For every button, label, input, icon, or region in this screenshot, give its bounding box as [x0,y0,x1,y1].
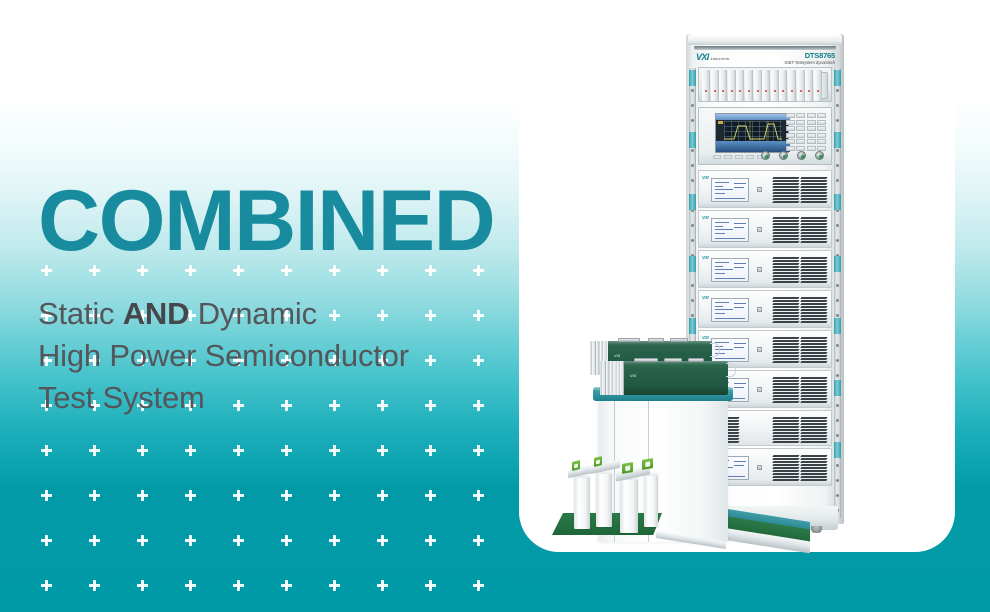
lcd-text-line [715,182,729,183]
rack-rail-hole [836,494,839,497]
front-module-connector-3 [688,358,704,362]
rack-rail-hole [691,119,694,122]
rack-rail-hole [836,164,839,167]
rear-module-handle[interactable] [710,343,720,357]
rack-rail-hole [836,179,839,182]
vent-louver [800,318,827,320]
rack-rail-hole [691,284,694,287]
rack-brand-logo: VXI instruments [696,53,729,62]
vent-louver [800,300,827,302]
analyzer-label-chip [724,155,732,159]
card-cage-slot[interactable] [711,70,719,101]
test-fixture-assembly: VXI VXI [560,335,810,570]
card-slot-led [731,90,733,92]
rear-module-connector-2 [648,338,664,342]
front-module-handle[interactable] [726,363,736,377]
rack-rail-hole [836,434,839,437]
dut-green-connector-4 [642,458,653,470]
module-vxi-logo: VXI [702,175,708,180]
analyzer-label-chip [735,155,743,159]
card-cage-slot[interactable] [754,70,762,101]
vent-louver [800,220,827,222]
module-lcd-display [711,218,749,242]
vent-louver [800,229,827,231]
rack-rail-accent [689,194,696,210]
card-cage-slot[interactable] [736,70,744,101]
lcd-text-line [715,309,733,310]
vent-louver [800,195,827,197]
lcd-text-line [715,233,725,234]
lcd-text-line [734,183,746,184]
analyzer-key[interactable] [807,113,816,118]
rack-rail-hole [836,239,839,242]
rack-caster-right [811,526,822,533]
module-vxi-logo: VXI [702,295,708,300]
vent-louver [772,241,799,243]
vent-louver [772,223,799,225]
vent-louver [772,321,799,323]
promo-banner: COMBINED Static AND Dynamic High Power S… [0,0,990,612]
rack-rail-hole [836,284,839,287]
card-cage-slot[interactable] [771,70,779,101]
dut-green-connector-3 [622,462,633,474]
vent-louver [800,321,827,323]
vent-louver [772,266,799,268]
fixture-heatsink-front [600,361,624,395]
card-cage-slot[interactable] [728,70,736,101]
rear-module-connector-1 [618,338,640,342]
rack-rail-hole [691,224,694,227]
rack-power-module: VXI [698,210,832,248]
vent-louver [800,186,827,188]
module-power-button[interactable] [757,267,762,272]
vent-louver [772,238,799,240]
rack-rail-accent [834,318,841,334]
analyzer-key[interactable] [807,126,816,131]
rack-rail-hole [691,314,694,317]
vent-louver [772,232,799,234]
vent-louver [800,201,827,203]
vent-louver [800,266,827,268]
vent-louver [800,238,827,240]
vent-louver [772,278,799,280]
analyzer-key[interactable] [796,126,805,131]
analyzer-key[interactable] [796,139,805,144]
vent-louver [772,177,799,179]
vent-louver [800,275,827,277]
vent-louver [800,180,827,182]
rack-rail-hole [836,149,839,152]
analyzer-key[interactable] [817,113,826,118]
rack-rail-accent [834,70,841,86]
vent-louver [800,232,827,234]
vent-louver [772,229,799,231]
rack-power-module: VXI [698,290,832,328]
analyzer-key[interactable] [786,113,795,118]
rack-analyzer-instrument [698,107,832,165]
lcd-text-line [715,278,745,279]
rack-card-cage [698,67,832,102]
analyzer-key[interactable] [817,139,826,144]
rack-rail-accent [689,318,696,334]
vent-louver [800,309,827,311]
rack-rail-hole [836,359,839,362]
rack-rail-hole [836,344,839,347]
lcd-text-line [715,222,729,223]
lcd-text-line [715,229,733,230]
card-slot-led [757,90,759,92]
analyzer-key[interactable] [817,120,826,125]
rack-rail-accent [689,132,696,148]
rack-rail-hole [691,179,694,182]
card-slot-led [817,90,819,92]
rack-rail-hole [836,314,839,317]
dut-pillar-2 [596,469,612,527]
vent-louver [772,275,799,277]
lcd-text-line [715,226,723,227]
rack-rail-accent [834,442,841,458]
analyzer-bnc-connector-1[interactable] [761,151,770,160]
rack-rail-accent [689,256,696,272]
module-lcd-display [711,178,749,202]
vent-louver [772,263,799,265]
rack-model-label: DTS8765 IGBT-Testsystem dynamisch [784,52,835,65]
analyzer-label-chip [746,155,754,159]
card-slot-led [800,90,802,92]
vxi-logo-text: VXI [696,53,709,62]
vent-louver [800,315,827,317]
rack-rail-hole [691,164,694,167]
analyzer-key[interactable] [786,126,795,131]
lcd-text-line [715,273,725,274]
rack-rail-hole [836,104,839,107]
rack-rail-hole [836,119,839,122]
lcd-text-line [734,263,746,264]
analyzer-label-chip [713,155,721,159]
rack-rail-hole [836,464,839,467]
rear-module-connector-3 [670,338,688,342]
analyzer-bnc-connector-3[interactable] [797,151,806,160]
rack-rail-hole [836,479,839,482]
vent-louver [800,223,827,225]
rack-rail-accent [834,132,841,148]
vent-louver [800,192,827,194]
vent-louver [800,226,827,228]
dut-pillar-1 [574,473,590,529]
lcd-text-line [715,266,723,267]
vent-louver [772,297,799,299]
analyzer-key[interactable] [807,146,816,151]
vent-louver [800,189,827,191]
lcd-text-line [715,238,745,239]
analyzer-key[interactable] [786,146,795,151]
analyzer-menu-bar-bottom [716,141,790,152]
analyzer-key[interactable] [807,120,816,125]
vent-louver [772,180,799,182]
module-vxi-logo: VXI [702,215,708,220]
vent-louver [772,189,799,191]
vent-louver [772,217,799,219]
rack-model-number: DTS8765 [784,52,835,60]
rack-rail-hole [691,89,694,92]
vent-louver [800,257,827,259]
analyzer-waveform-trace [724,121,782,143]
lcd-text-line [715,306,723,307]
vent-louver [800,281,827,283]
vent-louver [800,263,827,265]
vent-louver [772,260,799,262]
rack-rail-hole [836,299,839,302]
lcd-text-line [734,303,746,304]
rack-rail-hole [836,419,839,422]
vent-louver [800,278,827,280]
analyzer-key[interactable] [786,120,795,125]
card-slot-led [714,90,716,92]
vent-louver [772,300,799,302]
vent-louver [800,177,827,179]
lcd-text-line [715,186,723,187]
vent-louver [772,309,799,311]
lcd-text-line [734,187,744,188]
card-cage-slot[interactable] [797,70,805,101]
dut-pillar-4 [644,471,658,527]
vxi-logo-suffix: instruments [711,56,729,61]
rack-rail-hole [691,104,694,107]
green-module-front-logo: VXI [630,373,636,378]
green-module-rear-logo: VXI [614,353,620,358]
rack-rail-hole [836,89,839,92]
vent-louver [772,281,799,283]
vent-louver [800,297,827,299]
analyzer-bnc-connector-4[interactable] [815,151,824,160]
lcd-text-line [715,262,729,263]
vent-louver [772,235,799,237]
analyzer-key[interactable] [807,133,816,138]
analyzer-bnc-connector-2[interactable] [779,151,788,160]
vent-louver [772,186,799,188]
vent-louver [800,269,827,271]
analyzer-keypad[interactable] [786,113,826,151]
vent-louver [800,303,827,305]
vent-louver [800,272,827,274]
rack-rail-hole [691,299,694,302]
card-slot-led [748,90,750,92]
vent-louver [772,303,799,305]
card-slot-led [791,90,793,92]
rack-rail-accent [834,380,841,396]
vent-louver [800,241,827,243]
analyzer-key[interactable] [807,139,816,144]
rack-rail-right [834,68,841,518]
rack-top-cap [688,34,842,45]
module-vxi-logo: VXI [702,255,708,260]
vent-louver [800,235,827,237]
dut-pillar-3 [620,475,638,533]
card-cage-slot[interactable] [814,70,822,101]
card-cage-slot[interactable] [745,70,753,101]
vent-louver [772,306,799,308]
card-slot-led [774,90,776,92]
lcd-text-line [715,318,745,319]
card-cage-slot[interactable] [719,70,727,101]
analyzer-key[interactable] [796,120,805,125]
lcd-text-line [715,302,729,303]
module-power-button[interactable] [757,227,762,232]
vent-louver [772,183,799,185]
rack-power-module: VXI [698,170,832,208]
module-power-button[interactable] [757,187,762,192]
vent-louver [800,312,827,314]
lcd-text-line [715,313,725,314]
analyzer-key[interactable] [796,113,805,118]
rack-rail-accent [689,70,696,86]
lcd-text-line [734,227,744,228]
analyzer-display [715,113,789,153]
card-slot-led [705,90,707,92]
module-lcd-display [711,298,749,322]
lcd-text-line [715,198,745,199]
vent-louver [800,183,827,185]
rack-rail-hole [691,149,694,152]
lcd-text-line [734,223,746,224]
rack-rail-accent [834,194,841,210]
vent-louver [772,195,799,197]
front-module-connector-2 [664,358,682,362]
vent-louver [800,306,827,308]
analyzer-side-markers [718,121,723,143]
fixture-green-module-front: VXI [622,361,728,395]
vent-louver [772,192,799,194]
card-cage-slot[interactable] [762,70,770,101]
analyzer-key[interactable] [796,133,805,138]
rack-rail-accent [834,256,841,272]
lcd-text-line [734,267,744,268]
vent-louver [772,315,799,317]
product-illustration: VXI instruments DTS8765 IGBT-Testsystem … [0,0,990,612]
front-module-connector-1 [634,358,658,362]
vent-louver [800,217,827,219]
module-power-button[interactable] [757,307,762,312]
vent-louver [800,260,827,262]
lcd-text-line [715,269,733,270]
vent-louver [772,198,799,200]
rack-top-vent-slot [694,46,836,50]
rack-model-description: IGBT-Testsystem dynamisch [784,60,835,65]
card-cage-slot[interactable] [788,70,796,101]
card-cage-slot[interactable] [702,70,710,101]
analyzer-key[interactable] [817,126,826,131]
vent-louver [772,257,799,259]
vent-louver [772,201,799,203]
vent-louver [772,272,799,274]
module-lcd-display [711,258,749,282]
vent-louver [772,318,799,320]
lcd-text-line [715,189,733,190]
vent-louver [772,220,799,222]
analyzer-key[interactable] [786,139,795,144]
card-cage-slot[interactable] [779,70,787,101]
analyzer-key[interactable] [786,133,795,138]
vent-louver [772,269,799,271]
rack-rail-hole [836,224,839,227]
analyzer-label-chips [713,155,765,159]
lcd-text-line [734,307,744,308]
card-cage-slot[interactable] [805,70,813,101]
analyzer-key[interactable] [817,133,826,138]
vent-louver [772,226,799,228]
vent-louver [800,198,827,200]
rack-power-module: VXI [698,250,832,288]
rack-rail-hole [836,404,839,407]
lcd-text-line [715,193,725,194]
rack-rail-hole [691,239,694,242]
rack-rail-hole [836,374,839,377]
analyzer-menu-bar-top [716,114,790,120]
vent-louver [772,312,799,314]
